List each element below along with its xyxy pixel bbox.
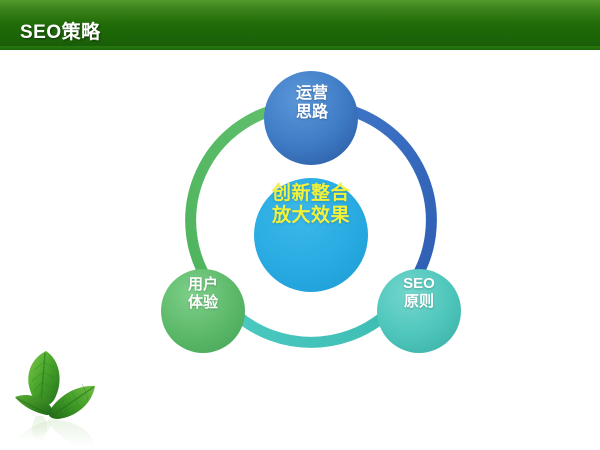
arc-bottom <box>239 317 383 342</box>
slide-canvas: SEO策略 <box>0 0 600 450</box>
header-underline <box>0 46 600 50</box>
leaf-decoration <box>2 344 122 448</box>
slide-header-bar: SEO策略 <box>0 0 600 50</box>
cycle-diagram: 运营 思路 用户 体验 SEO 原则 创新整合 放大效果 <box>150 58 472 380</box>
node-operation-strategy-circle[interactable] <box>264 71 358 165</box>
node-seo-principles-circle[interactable] <box>377 269 461 353</box>
center-node-circle[interactable] <box>254 178 368 292</box>
node-user-experience-circle[interactable] <box>161 269 245 353</box>
page-title: SEO策略 <box>20 17 101 44</box>
leaf-reflection <box>18 416 95 447</box>
diagram-svg <box>150 58 472 380</box>
leaf-decoration-svg <box>2 344 122 448</box>
